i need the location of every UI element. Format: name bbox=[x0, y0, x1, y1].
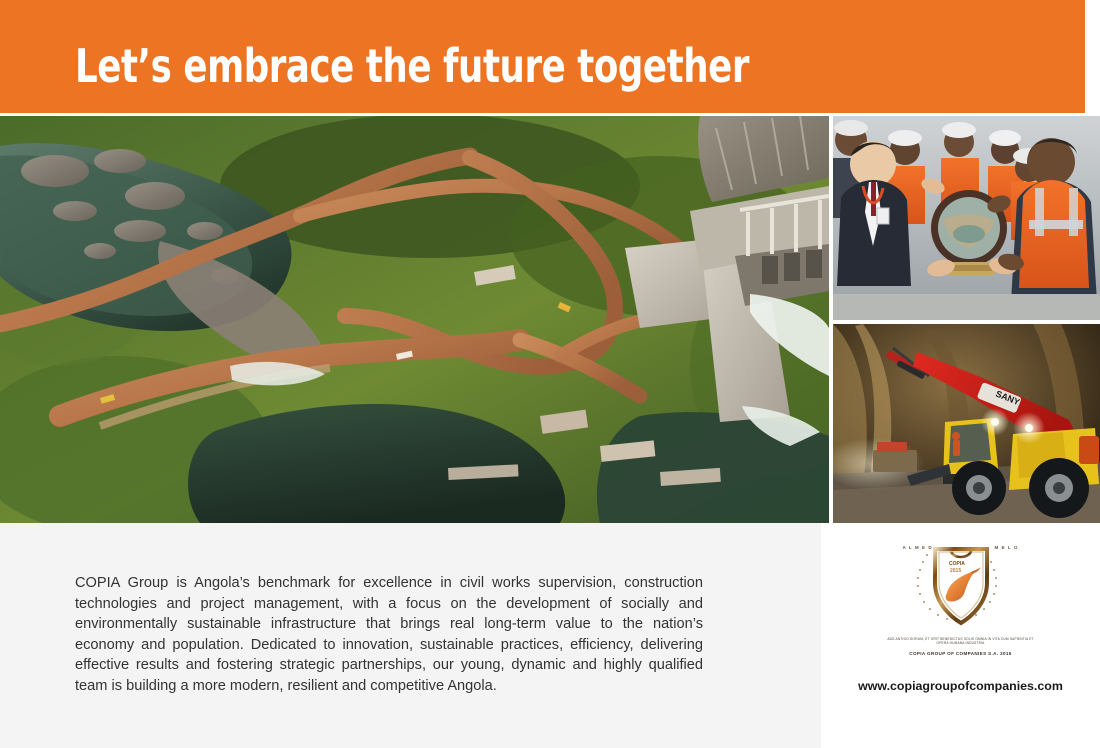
logo-block: COPIA 2015 A L M E D M E L O ADD ANTIGO … bbox=[821, 535, 1100, 735]
shield-icon: COPIA 2015 bbox=[905, 541, 1017, 633]
page-title: Let’s embrace the future together bbox=[75, 40, 749, 92]
tunnel-illustration: SANY bbox=[833, 324, 1100, 523]
aerial-dam-illustration bbox=[0, 116, 829, 523]
logo-left-letters: A L M E D bbox=[903, 545, 933, 551]
shield-year-text: 2015 bbox=[950, 568, 961, 574]
website-url[interactable]: www.copiagroupofcompanies.com bbox=[858, 679, 1063, 693]
header-banner: Let’s embrace the future together bbox=[0, 0, 1085, 113]
ceremony-photo bbox=[833, 116, 1100, 320]
body-paragraph: COPIA Group is Angola’s benchmark for ex… bbox=[75, 573, 703, 696]
copia-shield-logo: COPIA 2015 A L M E D M E L O bbox=[905, 541, 1017, 633]
photo-band: SANY bbox=[0, 116, 1100, 523]
body-panel: COPIA Group is Angola’s benchmark for ex… bbox=[0, 523, 821, 748]
poster-page: Let’s embrace the future together bbox=[0, 0, 1100, 748]
logo-caption: COPIA GROUP OF COMPANIES S.A. 2015 bbox=[909, 651, 1011, 657]
logo-panel: COPIA 2015 A L M E D M E L O ADD ANTIGO … bbox=[821, 523, 1100, 748]
aerial-dam-photo bbox=[0, 116, 829, 523]
shield-copia-text: COPIA bbox=[949, 561, 965, 567]
logo-fine-print: ADD ANTIGO DORUM, ET ORIT BENEDICTUS SOL… bbox=[886, 637, 1036, 646]
ceremony-illustration bbox=[833, 116, 1100, 320]
tunnel-construction-photo: SANY bbox=[833, 324, 1100, 523]
logo-right-letters: M E L O bbox=[994, 545, 1018, 551]
